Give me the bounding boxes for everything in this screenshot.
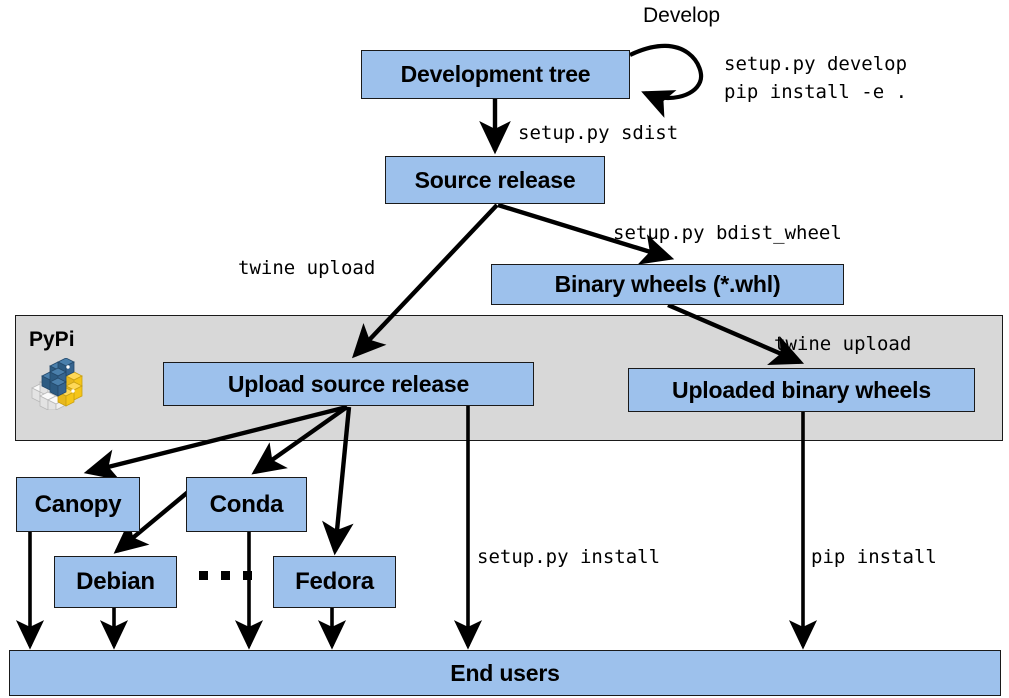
label-setup-py-develop: setup.py develop — [724, 51, 907, 77]
node-upload-source-release[interactable]: Upload source release — [163, 362, 534, 406]
node-fedora[interactable]: Fedora — [273, 556, 396, 608]
node-end-users[interactable]: End users — [9, 650, 1001, 696]
ellipsis-dots-icon — [199, 571, 252, 580]
edge-develop-self-loop — [630, 46, 701, 98]
pypi-logo-icon — [28, 358, 86, 415]
node-uploaded-binary-wheels[interactable]: Uploaded binary wheels — [628, 368, 975, 412]
label-setup-py-bdist-wheel: setup.py bdist_wheel — [613, 220, 842, 246]
pypi-group-label: PyPi — [29, 328, 75, 352]
label-develop: Develop — [643, 4, 720, 28]
label-setup-py-sdist: setup.py sdist — [518, 120, 678, 146]
label-twine-upload-wheels: twine upload — [774, 331, 911, 357]
label-twine-upload-source: twine upload — [238, 255, 375, 281]
node-conda[interactable]: Conda — [186, 477, 307, 532]
node-binary-wheels[interactable]: Binary wheels (*.whl) — [491, 264, 844, 305]
node-canopy[interactable]: Canopy — [16, 477, 140, 532]
diagram-canvas: PyPi — [0, 0, 1009, 698]
label-pip-install-editable: pip install -e . — [724, 79, 907, 105]
label-setup-py-install: setup.py install — [477, 544, 660, 570]
node-development-tree[interactable]: Development tree — [361, 50, 630, 99]
node-debian[interactable]: Debian — [54, 556, 177, 608]
node-source-release[interactable]: Source release — [385, 156, 605, 204]
label-pip-install: pip install — [811, 544, 937, 570]
